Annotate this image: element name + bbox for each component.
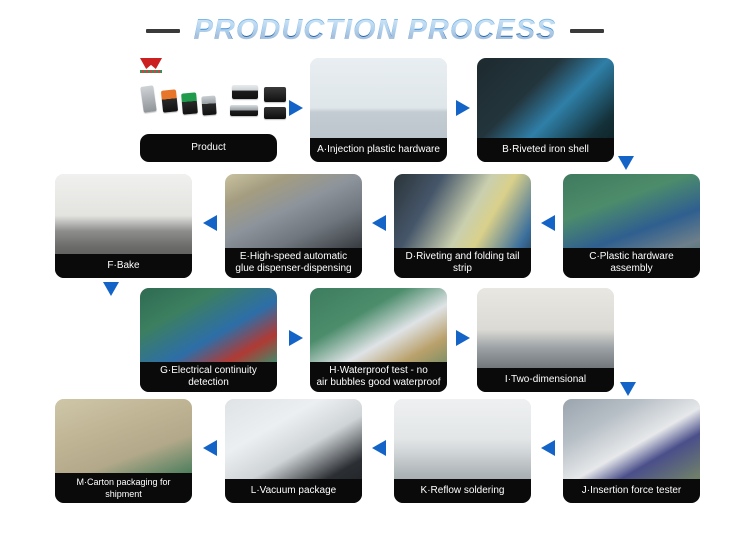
card-product-caption: Product xyxy=(140,134,277,162)
card-step-h[interactable]: H·Waterproof test - no air bubbles good … xyxy=(310,288,447,392)
card-step-m[interactable]: M·Carton packaging for shipment xyxy=(55,399,192,503)
card-step-d-caption: D·Riveting and folding tail strip xyxy=(394,248,531,278)
card-step-i-caption: I·Two-dimensional xyxy=(477,368,614,392)
card-step-k-caption: K·Reflow soldering xyxy=(394,479,531,503)
card-step-b[interactable]: B·Riveted iron shell xyxy=(477,58,614,162)
card-step-b-caption: B·Riveted iron shell xyxy=(477,138,614,162)
card-step-g-caption: G·Electrical continuity detection xyxy=(140,362,277,392)
card-step-l[interactable]: L·Vacuum package xyxy=(225,399,362,503)
arrow-c-to-d xyxy=(541,215,555,231)
arrow-row2-to-row3 xyxy=(103,282,119,296)
card-step-a-caption: A·Injection plastic hardware xyxy=(310,138,447,162)
card-step-m-caption: M·Carton packaging for shipment xyxy=(55,473,192,503)
card-step-g[interactable]: G·Electrical continuity detection xyxy=(140,288,277,392)
arrow-a-to-b xyxy=(456,100,470,116)
arrow-row1-to-row2 xyxy=(618,156,634,170)
card-step-e[interactable]: E·High-speed automatic glue dispenser-di… xyxy=(225,174,362,278)
arrow-d-to-e xyxy=(372,215,386,231)
arrow-h-to-i xyxy=(456,330,470,346)
arrow-k-to-l xyxy=(372,440,386,456)
title-dash-right xyxy=(570,29,604,33)
arrow-row3-to-row4 xyxy=(620,382,636,396)
arrow-j-to-k xyxy=(541,440,555,456)
page-title-bar: PRODUCTION PROCESS xyxy=(0,14,750,47)
card-step-j[interactable]: J·Insertion force tester xyxy=(563,399,700,503)
card-product[interactable]: Product xyxy=(140,58,277,162)
card-step-d[interactable]: D·Riveting and folding tail strip xyxy=(394,174,531,278)
card-step-e-caption-line2: glue dispenser-dispensing xyxy=(235,263,351,275)
arrow-g-to-h xyxy=(289,330,303,346)
production-process-infographic: PRODUCTION PROCESS Product A·Injection p… xyxy=(0,0,750,537)
card-step-k[interactable]: K·Reflow soldering xyxy=(394,399,531,503)
arrow-e-to-f xyxy=(203,215,217,231)
card-step-h-caption: H·Waterproof test - no air bubbles good … xyxy=(310,362,447,392)
arrow-l-to-m xyxy=(203,440,217,456)
card-step-e-caption: E·High-speed automatic glue dispenser-di… xyxy=(225,248,362,278)
product-parts-illustration xyxy=(140,82,288,130)
card-step-a[interactable]: A·Injection plastic hardware xyxy=(310,58,447,162)
card-step-h-caption-line1: H·Waterproof test - no xyxy=(329,365,428,377)
card-step-e-caption-line1: E·High-speed automatic xyxy=(240,251,347,263)
card-step-h-caption-line2: air bubbles good waterproof xyxy=(317,377,441,389)
card-step-f-caption: F·Bake xyxy=(55,254,192,278)
page-title: PRODUCTION PROCESS xyxy=(194,14,557,47)
card-step-c-caption: C·Plastic hardware assembly xyxy=(563,248,700,278)
company-logo-icon xyxy=(140,58,164,74)
title-dash-left xyxy=(146,29,180,33)
card-step-j-caption: J·Insertion force tester xyxy=(563,479,700,503)
card-step-f[interactable]: F·Bake xyxy=(55,174,192,278)
arrow-product-to-a xyxy=(289,100,303,116)
card-step-l-caption: L·Vacuum package xyxy=(225,479,362,503)
card-step-i[interactable]: I·Two-dimensional xyxy=(477,288,614,392)
card-step-c[interactable]: C·Plastic hardware assembly xyxy=(563,174,700,278)
